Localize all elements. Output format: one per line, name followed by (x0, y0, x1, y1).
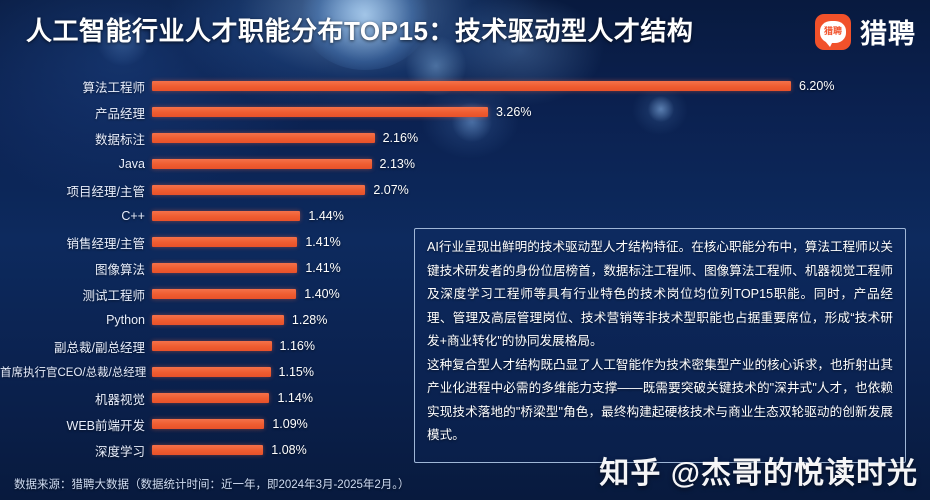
bar-category-label: C++ (0, 209, 152, 223)
bar-value-label: 1.28% (292, 313, 327, 327)
source-footnote: 数据来源：猎聘大数据（数据统计时间：近一年，即2024年3月-2025年2月。） (14, 476, 410, 492)
bar-value-label: 1.14% (277, 391, 312, 405)
bar-category-label: WEB前端开发 (0, 415, 152, 434)
bar-track: 1.44% (152, 203, 930, 229)
bar (152, 133, 375, 143)
watermark: 知乎 @杰哥的悦读时光 (599, 448, 918, 492)
bar-value-label: 1.09% (272, 417, 307, 431)
bar-row: 项目经理/主管2.07% (0, 177, 930, 203)
bar-category-label: Java (0, 157, 152, 171)
bar (152, 237, 297, 247)
bar-value-label: 6.20% (799, 79, 834, 93)
bar-value-label: 2.13% (380, 157, 415, 171)
bar-track: 2.16% (152, 125, 930, 151)
bar (152, 367, 271, 377)
bar-category-label: 图像算法 (0, 259, 152, 278)
bar-category-label: 测试工程师 (0, 285, 152, 304)
bar-category-label: 首席执行官CEO/总裁/总经理 (0, 364, 152, 380)
bar-value-label: 1.44% (308, 209, 343, 223)
bar-row: 数据标注2.16% (0, 125, 930, 151)
bar (152, 393, 269, 403)
analysis-note: AI行业呈现出鲜明的技术驱动型人才结构特征。在核心职能分布中，算法工程师以关键技… (414, 228, 906, 463)
bar-value-label: 1.41% (305, 261, 340, 275)
bar-value-label: 2.07% (373, 183, 408, 197)
bar-value-label: 1.16% (280, 339, 315, 353)
bar-category-label: 项目经理/主管 (0, 181, 152, 200)
bar-category-label: 数据标注 (0, 129, 152, 148)
speech-bubble-icon: 猎聘 (820, 21, 846, 43)
logo-mark-label: 猎聘 (824, 27, 842, 36)
bar-value-label: 3.26% (496, 105, 531, 119)
note-paragraph-1: AI行业呈现出鲜明的技术驱动型人才结构特征。在核心职能分布中，算法工程师以关键技… (427, 236, 893, 354)
brand-name: 猎聘 (860, 12, 916, 51)
bar (152, 263, 297, 273)
bar (152, 185, 365, 195)
header: 人工智能行业人才职能分布TOP15：技术驱动型人才结构 猎聘 猎聘 (0, 0, 930, 62)
infographic-canvas: 人工智能行业人才职能分布TOP15：技术驱动型人才结构 猎聘 猎聘 算法工程师6… (0, 0, 930, 500)
bar (152, 315, 284, 325)
bar (152, 445, 263, 455)
bar (152, 211, 300, 221)
brand-logo: 猎聘 猎聘 (815, 12, 916, 51)
bar-category-label: 算法工程师 (0, 77, 152, 96)
note-paragraph-2: 这种复合型人才结构既凸显了人工智能作为技术密集型产业的核心诉求，也折射出其产业化… (427, 354, 893, 448)
bar (152, 289, 296, 299)
bar-category-label: 产品经理 (0, 103, 152, 122)
bar-category-label: 销售经理/主管 (0, 233, 152, 252)
bar-track: 2.07% (152, 177, 930, 203)
bar (152, 81, 791, 91)
liepin-logo-icon: 猎聘 (815, 14, 851, 50)
bar-value-label: 1.08% (271, 443, 306, 457)
bar (152, 107, 488, 117)
bar-value-label: 1.40% (304, 287, 339, 301)
page-title: 人工智能行业人才职能分布TOP15：技术驱动型人才结构 (26, 11, 693, 48)
bar-row: 产品经理3.26% (0, 99, 930, 125)
bar-category-label: Python (0, 313, 152, 327)
bar-track: 6.20% (152, 73, 930, 99)
bar (152, 159, 372, 169)
bar-category-label: 机器视觉 (0, 389, 152, 408)
bar-row: C++1.44% (0, 203, 930, 229)
bar-value-label: 1.15% (279, 365, 314, 379)
bar (152, 341, 272, 351)
bar-row: Java2.13% (0, 151, 930, 177)
bar-row: 算法工程师6.20% (0, 73, 930, 99)
bar (152, 419, 264, 429)
bar-track: 2.13% (152, 151, 930, 177)
bar-value-label: 2.16% (383, 131, 418, 145)
bar-category-label: 深度学习 (0, 441, 152, 460)
bar-value-label: 1.41% (305, 235, 340, 249)
bar-category-label: 副总裁/副总经理 (0, 337, 152, 356)
bar-track: 3.26% (152, 99, 930, 125)
